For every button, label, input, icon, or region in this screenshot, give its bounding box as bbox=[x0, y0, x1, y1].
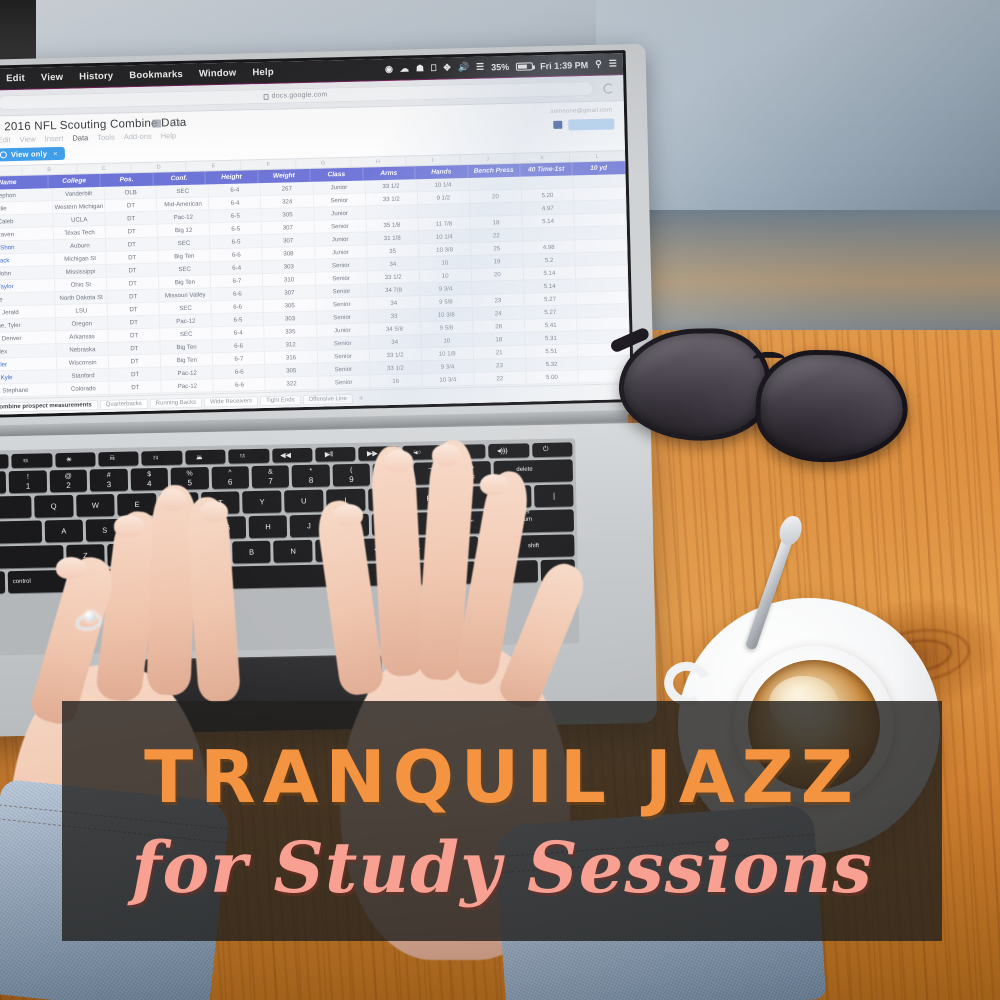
key-2[interactable]: @2 bbox=[49, 470, 87, 493]
key-8[interactable]: *8 bbox=[292, 464, 330, 487]
table-cell[interactable]: 303 bbox=[264, 312, 316, 325]
table-cell[interactable]: Wisconsin bbox=[57, 356, 109, 369]
table-cell[interactable]: 6-4 bbox=[213, 326, 265, 339]
column-header-10-yd[interactable]: 10 yd bbox=[573, 161, 626, 175]
table-cell[interactable]: 5.2 bbox=[523, 253, 575, 266]
column-letter-d[interactable]: D bbox=[132, 162, 187, 172]
table-cell[interactable]: 33 1/2 bbox=[369, 348, 421, 361]
comments-icon[interactable] bbox=[553, 121, 562, 129]
cloud-sync-icon[interactable]: ☗ bbox=[416, 63, 424, 74]
table-cell[interactable]: Auburn bbox=[54, 239, 106, 252]
table-cell[interactable]: Fang, Joe bbox=[0, 292, 56, 306]
table-cell[interactable]: 9 1/2 bbox=[418, 191, 470, 204]
table-cell[interactable]: 11 7/8 bbox=[418, 217, 470, 230]
table-cell[interactable] bbox=[576, 291, 628, 304]
volume-icon[interactable]: 🔊 bbox=[458, 62, 469, 73]
table-cell[interactable]: DT bbox=[107, 264, 159, 277]
table-cell[interactable]: Senior bbox=[318, 362, 370, 375]
shield-icon[interactable]: ◉ bbox=[385, 64, 393, 75]
table-cell[interactable]: 18 bbox=[473, 333, 525, 346]
menubar-item-help[interactable]: Help bbox=[252, 67, 274, 79]
menubar-item-edit[interactable]: Edit bbox=[6, 73, 25, 84]
table-cell[interactable]: 34 bbox=[369, 335, 421, 348]
key-f3[interactable]: ⌸F3 bbox=[98, 451, 139, 466]
album-title: TRANQUIL JAZZ bbox=[144, 741, 860, 813]
table-cell[interactable]: 6-4 bbox=[209, 183, 261, 196]
table-cell[interactable]: 10 3/8 bbox=[421, 308, 473, 321]
column-header-height[interactable]: Height bbox=[206, 170, 259, 184]
table-body: Aberly, StephonVanderbiltOLBSEC6-4267Jun… bbox=[0, 174, 632, 418]
table-cell[interactable] bbox=[577, 317, 629, 330]
table-cell[interactable]: 303 bbox=[263, 260, 315, 273]
table-cell[interactable]: 9 5/8 bbox=[421, 321, 473, 334]
table-cell[interactable]: Cooper, John bbox=[0, 266, 55, 280]
table-cell[interactable]: Mississippi bbox=[55, 265, 107, 278]
table-cell[interactable]: 34 bbox=[368, 296, 420, 309]
table-cell[interactable]: Senior bbox=[318, 375, 370, 388]
key-u[interactable]: U bbox=[284, 490, 323, 513]
table-cell[interactable]: Big 12 bbox=[158, 223, 210, 236]
sheets-menu-addons[interactable]: Add-ons bbox=[124, 132, 152, 142]
table-cell[interactable]: 33 1/2 bbox=[370, 361, 422, 374]
table-cell[interactable]: 5.27 bbox=[525, 305, 577, 318]
table-cell[interactable]: Senior bbox=[316, 284, 368, 297]
table-cell[interactable]: 24 bbox=[473, 307, 525, 320]
table-cell[interactable]: 5.14 bbox=[522, 214, 574, 227]
sheets-menu-help[interactable]: Help bbox=[161, 131, 177, 140]
view-only-label: View only bbox=[11, 149, 47, 159]
table-cell[interactable]: 6-5 bbox=[210, 222, 262, 235]
table-cell[interactable]: DT bbox=[106, 212, 158, 225]
table-cell[interactable]: 9 3/4 bbox=[422, 360, 474, 373]
key-tab[interactable]: tab bbox=[0, 496, 32, 519]
key-esc[interactable]: esc bbox=[0, 454, 9, 469]
sheet-tab-quarterbacks[interactable]: Quarterbacks bbox=[100, 398, 148, 409]
key-f8[interactable]: ▶‖F8 bbox=[315, 447, 356, 462]
sheet-tab-offensive-line[interactable]: Offensive Line bbox=[302, 393, 352, 404]
table-cell[interactable]: SEC bbox=[158, 236, 210, 249]
dropbox-icon[interactable]: ☁ bbox=[400, 63, 409, 74]
table-cell[interactable]: 6-6 bbox=[212, 300, 264, 313]
column-header-hands[interactable]: Hands bbox=[415, 165, 468, 179]
table-cell[interactable]: Bolden, Jack bbox=[0, 253, 55, 267]
table-cell[interactable]: Ohio St bbox=[55, 278, 107, 291]
table-cell[interactable]: 305 bbox=[262, 208, 314, 221]
table-cell[interactable]: 35 1/8 bbox=[366, 218, 418, 231]
table-cell[interactable]: 5.14 bbox=[524, 279, 576, 292]
battery-icon[interactable] bbox=[516, 62, 533, 70]
key-f5[interactable]: ☁F5 bbox=[185, 450, 226, 465]
table-cell[interactable]: Colorado bbox=[58, 382, 110, 395]
table-cell[interactable]: Senior bbox=[314, 219, 366, 232]
share-button[interactable] bbox=[568, 118, 614, 130]
table-cell[interactable]: Murphy, Kyle bbox=[0, 370, 58, 384]
table-cell[interactable]: 22 bbox=[471, 229, 523, 242]
table-cell[interactable]: Kirkland, Denver bbox=[0, 331, 57, 345]
table-cell[interactable]: Pac-12 bbox=[160, 314, 212, 327]
table-cell[interactable]: 305 bbox=[266, 364, 318, 377]
column-letter-j[interactable]: J bbox=[461, 154, 516, 164]
table-cell[interactable]: 9 3/4 bbox=[420, 282, 472, 295]
table-cell[interactable]: 6-4 bbox=[211, 261, 263, 274]
table-cell[interactable]: Oregon bbox=[56, 317, 108, 330]
title-overlay-band: TRANQUIL JAZZ for Study Sessions bbox=[62, 701, 942, 941]
reload-icon[interactable] bbox=[603, 83, 613, 93]
table-cell[interactable]: 22 bbox=[474, 372, 526, 385]
table-cell[interactable] bbox=[574, 200, 626, 213]
key-f6[interactable]: ∵F6 bbox=[228, 449, 269, 464]
table-cell[interactable]: Vanderbilt bbox=[53, 187, 105, 200]
table-cell[interactable]: 6-6 bbox=[214, 365, 266, 378]
column-letter-b[interactable]: B bbox=[22, 165, 77, 175]
table-cell[interactable]: Junior bbox=[315, 245, 367, 258]
table-cell[interactable]: 324 bbox=[261, 195, 313, 208]
table-cell[interactable]: 6-5 bbox=[210, 235, 262, 248]
table-cell[interactable]: SEC bbox=[159, 262, 211, 275]
table-cell[interactable]: 20 bbox=[472, 268, 524, 281]
sheet-tab-tight-ends[interactable]: Tight Ends bbox=[260, 395, 301, 406]
table-cell[interactable]: Big Ten bbox=[159, 249, 211, 262]
table-cell[interactable] bbox=[521, 175, 573, 188]
sheets-menu-edit[interactable]: Edit bbox=[0, 135, 11, 144]
table-cell[interactable]: Barr, Le'Raven bbox=[0, 227, 54, 241]
table-cell[interactable]: 10 3/8 bbox=[419, 243, 471, 256]
sheet-tab-wide-receivers[interactable]: Wide Receivers bbox=[204, 396, 258, 407]
table-cell[interactable]: Junior bbox=[317, 323, 369, 336]
table-cell[interactable]: Beaman, Shon bbox=[0, 240, 54, 254]
table-cell[interactable]: Banuch, Caleb bbox=[0, 214, 54, 228]
table-cell[interactable]: DT bbox=[106, 238, 158, 251]
table-cell[interactable]: DT bbox=[106, 225, 158, 238]
table-cell[interactable]: DT bbox=[107, 251, 159, 264]
table-cell[interactable]: 6-6 bbox=[211, 248, 263, 261]
table-cell[interactable]: LSU bbox=[56, 304, 108, 317]
column-header-conf[interactable]: Conf. bbox=[153, 171, 206, 185]
table-cell[interactable]: 307 bbox=[262, 221, 314, 234]
table-cell[interactable]: Michigan St bbox=[54, 252, 106, 265]
table-cell[interactable]: DT bbox=[109, 368, 161, 381]
add-sheet-button[interactable]: + bbox=[359, 394, 364, 403]
table-cell[interactable]: Pac-12 bbox=[161, 366, 213, 379]
menubar-item-bookmarks[interactable]: Bookmarks bbox=[129, 69, 183, 81]
table-cell[interactable]: DT bbox=[108, 290, 160, 303]
table-cell[interactable]: 33 1/2 bbox=[366, 192, 418, 205]
table-cell[interactable]: 322 bbox=[266, 377, 318, 390]
key-f2[interactable]: ☀F2 bbox=[55, 452, 96, 467]
control-center-icon[interactable]: ☰ bbox=[609, 58, 617, 69]
eye-icon bbox=[0, 151, 7, 158]
table-cell[interactable] bbox=[366, 205, 418, 218]
table-cell[interactable]: 10 1/4 bbox=[419, 230, 471, 243]
wifi-icon[interactable]: ☰ bbox=[476, 62, 484, 73]
key-y[interactable]: Y bbox=[243, 490, 282, 513]
table-cell[interactable]: 307 bbox=[262, 234, 314, 247]
table-cell[interactable]: 10 1/4 bbox=[417, 178, 469, 191]
table-cell[interactable]: 6-6 bbox=[214, 378, 266, 391]
table-cell[interactable]: DT bbox=[110, 381, 162, 394]
table-cell[interactable]: 33 1/2 bbox=[365, 179, 417, 192]
table-cell[interactable]: UCLA bbox=[54, 213, 106, 226]
key-3[interactable]: #3 bbox=[90, 469, 128, 492]
table-cell[interactable]: 5.14 bbox=[524, 266, 576, 279]
table-cell[interactable] bbox=[470, 203, 522, 216]
table-cell[interactable]: Marz, Tyler bbox=[0, 357, 57, 371]
key-f1[interactable]: ☼F1 bbox=[12, 453, 53, 468]
lock-icon bbox=[264, 93, 269, 99]
table-cell[interactable]: Junior bbox=[313, 181, 365, 194]
table-cell[interactable] bbox=[472, 281, 524, 294]
column-header-pos[interactable]: Pos. bbox=[101, 173, 154, 187]
sheet-tab-combine-prospect-measurements[interactable]: Combine prospect measurements bbox=[0, 400, 98, 413]
table-cell[interactable]: 310 bbox=[263, 273, 315, 286]
table-cell[interactable]: DT bbox=[108, 303, 160, 316]
table-cell[interactable]: 10 bbox=[420, 269, 472, 282]
table-cell[interactable]: 4.97 bbox=[522, 201, 574, 214]
sheets-menu-data[interactable]: Data bbox=[72, 133, 88, 142]
table-cell[interactable]: 20 bbox=[470, 190, 522, 203]
table-cell[interactable] bbox=[574, 213, 626, 226]
table-cell[interactable]: Decker, Taylor bbox=[0, 279, 55, 293]
table-cell[interactable]: 10 bbox=[419, 256, 471, 269]
table-cell[interactable]: Ayers, Willie bbox=[0, 201, 54, 215]
column-header-bench-press[interactable]: Bench Press bbox=[468, 164, 521, 178]
table-cell[interactable]: 21 bbox=[474, 346, 526, 359]
table-cell[interactable]: 4.98 bbox=[523, 240, 575, 253]
table-cell[interactable]: Pac-12 bbox=[162, 379, 214, 392]
table-cell[interactable]: Pac-12 bbox=[158, 210, 210, 223]
table-cell[interactable]: 5.00 bbox=[526, 370, 578, 383]
table-cell[interactable]: 9 5/8 bbox=[420, 295, 472, 308]
table-cell[interactable]: 5.32 bbox=[526, 357, 578, 370]
table-cell[interactable]: 5.27 bbox=[524, 292, 576, 305]
column-letter-a[interactable]: A bbox=[0, 166, 22, 176]
sheets-menu-tools[interactable]: Tools bbox=[97, 133, 115, 142]
album-subtitle: for Study Sessions bbox=[131, 833, 872, 903]
table-cell[interactable]: 307 bbox=[264, 286, 316, 299]
table-cell[interactable]: 308 bbox=[263, 247, 315, 260]
menubar-item-view[interactable]: View bbox=[41, 72, 64, 84]
table-cell[interactable]: 6-5 bbox=[212, 313, 264, 326]
sunglasses-right-lens bbox=[755, 349, 909, 464]
table-cell[interactable]: DT bbox=[107, 277, 159, 290]
key-f4[interactable]: ∷F4 bbox=[142, 451, 183, 466]
column-letter-i[interactable]: I bbox=[406, 155, 461, 165]
sheets-menu-insert[interactable]: Insert bbox=[45, 134, 64, 143]
table-cell[interactable]: Senior bbox=[317, 336, 369, 349]
key-9[interactable]: (9 bbox=[332, 464, 370, 487]
table-cell[interactable]: Texas Tech bbox=[54, 226, 106, 239]
table-cell[interactable]: 6-7 bbox=[211, 274, 263, 287]
table-cell[interactable]: Lewis, Alex bbox=[0, 344, 57, 358]
key-fn[interactable]: fn bbox=[0, 571, 5, 594]
key-4[interactable]: $4 bbox=[130, 468, 168, 491]
album-cover: File Edit View History Bookmarks Window … bbox=[0, 0, 1000, 1000]
search-icon[interactable]: ⚲ bbox=[595, 59, 602, 70]
document-icon-group bbox=[152, 119, 180, 128]
table-cell[interactable]: 34 5/8 bbox=[369, 322, 421, 335]
table-cell[interactable] bbox=[523, 227, 575, 240]
table-cell[interactable]: 6-7 bbox=[213, 352, 265, 365]
table-cell[interactable]: Senior bbox=[316, 310, 368, 323]
table-cell[interactable] bbox=[575, 239, 627, 252]
column-letter-l[interactable]: L bbox=[570, 151, 625, 161]
column-header-arms[interactable]: Arms bbox=[363, 166, 416, 180]
battery-percent: 35% bbox=[491, 61, 509, 71]
menubar-item-history[interactable]: History bbox=[79, 71, 113, 83]
table-cell[interactable]: SEC bbox=[157, 184, 209, 197]
table-cell[interactable]: 316 bbox=[265, 351, 317, 364]
menubar-clock[interactable]: Fri 1:39 PM bbox=[540, 60, 588, 71]
table-cell[interactable]: 5.20 bbox=[522, 188, 574, 201]
address-bar-url: docs.google.com bbox=[271, 91, 327, 99]
table-cell[interactable] bbox=[574, 187, 626, 200]
sunglasses-left-lens bbox=[618, 327, 772, 442]
table-cell[interactable] bbox=[574, 174, 626, 187]
column-letter-h[interactable]: H bbox=[351, 157, 406, 167]
table-cell[interactable]: Big Ten bbox=[159, 275, 211, 288]
table-cell[interactable]: 6-4 bbox=[209, 196, 261, 209]
table-cell[interactable]: North Dakota St bbox=[55, 291, 107, 304]
table-cell[interactable]: 28 bbox=[473, 320, 525, 333]
table-cell[interactable]: 335 bbox=[265, 325, 317, 338]
column-header-weight[interactable]: Weight bbox=[258, 169, 311, 183]
table-cell[interactable]: 31 1/8 bbox=[367, 231, 419, 244]
table-cell[interactable]: Senior bbox=[316, 297, 368, 310]
table-cell[interactable]: 34 bbox=[367, 257, 419, 270]
table-cell[interactable]: 267 bbox=[261, 182, 313, 195]
table-cell[interactable]: Nordahl, Stephane bbox=[0, 383, 58, 397]
table-cell[interactable]: 10 1/8 bbox=[421, 347, 473, 360]
key-`[interactable]: ~` bbox=[0, 471, 7, 494]
sheets-menu-view[interactable]: View bbox=[19, 135, 35, 144]
column-letter-e[interactable]: E bbox=[186, 161, 241, 171]
laptop-lid: File Edit View History Bookmarks Window … bbox=[0, 44, 654, 431]
table-cell[interactable]: 5.31 bbox=[525, 331, 577, 344]
table-cell[interactable]: 34 7/8 bbox=[368, 283, 420, 296]
table-cell[interactable]: 33 bbox=[368, 309, 420, 322]
table-cell[interactable]: 23 bbox=[472, 294, 524, 307]
table-cell[interactable]: Nebraska bbox=[57, 343, 109, 356]
table-cell[interactable]: 10 bbox=[421, 334, 473, 347]
key-6[interactable]: ^6 bbox=[211, 466, 249, 489]
table-cell[interactable] bbox=[576, 265, 628, 278]
column-letter-c[interactable]: C bbox=[77, 163, 132, 173]
table-cell[interactable]: Senior bbox=[315, 258, 367, 271]
table-cell[interactable] bbox=[576, 278, 628, 291]
column-header-class[interactable]: Class bbox=[310, 168, 363, 182]
key-f12[interactable]: ◂)))F12 bbox=[489, 443, 530, 458]
table-cell[interactable]: 10 3/4 bbox=[422, 373, 474, 386]
table-cell[interactable]: Johnstone, Tyler bbox=[0, 318, 56, 332]
table-cell[interactable] bbox=[418, 204, 470, 217]
close-icon[interactable]: × bbox=[53, 149, 58, 158]
column-letter-f[interactable]: F bbox=[241, 159, 296, 169]
table-cell[interactable]: 25 bbox=[471, 242, 523, 255]
table-cell[interactable]: Arkansas bbox=[56, 330, 108, 343]
table-cell[interactable]: DT bbox=[108, 316, 160, 329]
key-h[interactable]: H bbox=[249, 515, 287, 538]
key-⏻[interactable]: ⏻ bbox=[532, 442, 573, 457]
key-w[interactable]: W bbox=[76, 494, 115, 517]
table-cell[interactable]: DT bbox=[105, 199, 157, 212]
table-cell[interactable]: Junior bbox=[314, 232, 366, 245]
table-cell[interactable]: 6-5 bbox=[210, 209, 262, 222]
bluetooth-icon[interactable]: ✥ bbox=[443, 62, 451, 73]
table-cell[interactable]: SEC bbox=[161, 327, 213, 340]
table-cell[interactable]: Senior bbox=[317, 349, 369, 362]
table-cell[interactable]: SEC bbox=[160, 301, 212, 314]
table-cell[interactable]: Stanford bbox=[57, 369, 109, 382]
table-cell[interactable]: 305 bbox=[264, 299, 316, 312]
table-cell[interactable]: DT bbox=[109, 355, 161, 368]
table-cell[interactable]: Mid-American bbox=[157, 197, 209, 210]
key-f7[interactable]: ◀◀F7 bbox=[272, 448, 313, 463]
table-cell[interactable]: Western Michigan bbox=[53, 200, 105, 213]
table-cell[interactable]: 5.41 bbox=[525, 318, 577, 331]
key-1[interactable]: !1 bbox=[9, 470, 47, 493]
table-cell[interactable]: OLB bbox=[105, 186, 157, 199]
table-cell[interactable]: 18 bbox=[470, 216, 522, 229]
table-cell[interactable]: 33 1/2 bbox=[368, 270, 420, 283]
table-cell[interactable]: 19 bbox=[471, 255, 523, 268]
key-a[interactable]: A bbox=[45, 520, 83, 543]
key-7[interactable]: &7 bbox=[252, 465, 290, 488]
star-icon[interactable] bbox=[152, 119, 161, 127]
column-header-college[interactable]: College bbox=[48, 174, 101, 188]
table-cell[interactable]: Junior bbox=[314, 207, 366, 220]
table-cell[interactable]: Senior bbox=[315, 271, 367, 284]
table-cell[interactable]: Big Ten bbox=[161, 353, 213, 366]
airplay-icon[interactable]: ⎕ bbox=[431, 63, 437, 74]
table-cell[interactable] bbox=[577, 304, 629, 317]
table-cell[interactable]: DT bbox=[108, 329, 160, 342]
table-cell[interactable]: Aberly, Stephon bbox=[0, 188, 53, 202]
column-letter-k[interactable]: K bbox=[515, 152, 570, 162]
laptop-screen: File Edit View History Bookmarks Window … bbox=[0, 50, 634, 418]
table-cell[interactable] bbox=[575, 252, 627, 265]
table-cell[interactable]: 6-6 bbox=[212, 287, 264, 300]
menubar-item-window[interactable]: Window bbox=[199, 68, 237, 80]
table-cell[interactable]: 16 bbox=[370, 374, 422, 387]
table-cell[interactable]: 5.51 bbox=[526, 344, 578, 357]
cloud-status-icon bbox=[170, 119, 180, 126]
key-caps-lock[interactable]: caps lock bbox=[0, 520, 42, 544]
table-cell[interactable]: 35 bbox=[367, 244, 419, 257]
table-cell[interactable]: Big Ten bbox=[161, 340, 213, 353]
view-only-badge[interactable]: View only × bbox=[0, 147, 65, 162]
key-|[interactable]: | bbox=[534, 484, 573, 507]
table-cell[interactable] bbox=[575, 226, 627, 239]
table-cell[interactable]: 6-6 bbox=[213, 339, 265, 352]
table-cell[interactable]: 23 bbox=[474, 359, 526, 372]
table-cell[interactable] bbox=[469, 177, 521, 190]
table-cell[interactable]: DT bbox=[109, 342, 161, 355]
column-letter-g[interactable]: G bbox=[296, 158, 351, 168]
sheet-tab-running-backs[interactable]: Running Backs bbox=[150, 397, 203, 408]
table-cell[interactable]: 312 bbox=[265, 338, 317, 351]
table-cell[interactable]: Hawkins, Jerald bbox=[0, 305, 56, 319]
key-q[interactable]: Q bbox=[34, 495, 73, 518]
sunglasses bbox=[613, 320, 927, 481]
column-header-40-time-1st[interactable]: 40 Time-1st bbox=[520, 162, 573, 176]
table-cell[interactable]: Senior bbox=[314, 194, 366, 207]
table-cell[interactable]: Missouri Valley bbox=[160, 288, 212, 301]
